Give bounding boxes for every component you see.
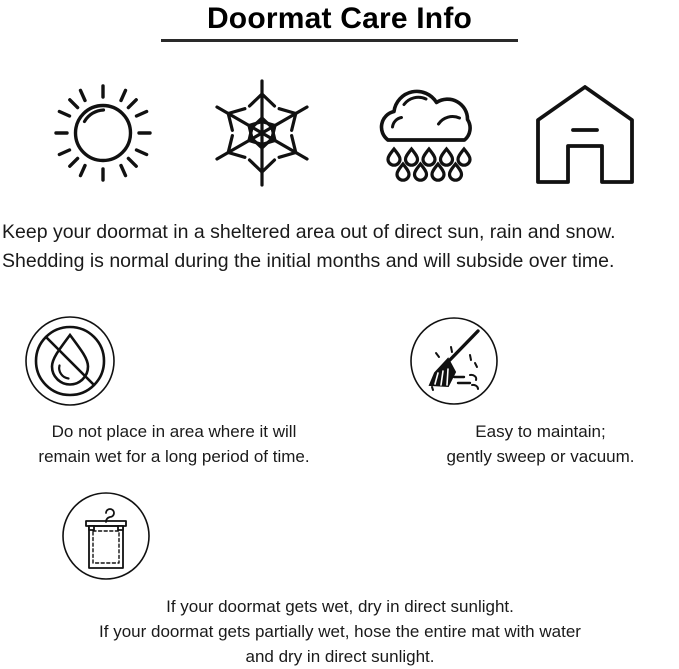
care-caption-dry: If your doormat gets wet, dry in direct … [60, 594, 620, 669]
intro-line-2: Shedding is normal during the initial mo… [2, 247, 679, 276]
care-caption-line-1: Do not place in area where it will [24, 419, 324, 444]
intro-line-1: Keep your doormat in a sheltered area ou… [2, 218, 679, 247]
care-item-no-water: Do not place in area where it will remai… [24, 315, 324, 469]
no-water-droplet-icon [24, 315, 324, 407]
title-underline-rule [161, 39, 518, 42]
care-item-sweep: Easy to maintain; gently sweep or vacuum… [408, 315, 673, 469]
snowflake-icon [197, 72, 327, 194]
rain-cloud-icon [358, 72, 488, 194]
sun-icon [38, 72, 168, 194]
care-caption-line-2: gently sweep or vacuum. [408, 444, 673, 469]
intro-paragraph: Keep your doormat in a sheltered area ou… [2, 218, 679, 276]
care-caption-line-1: Easy to maintain; [408, 419, 673, 444]
care-caption-line-3: and dry in direct sunlight. [60, 644, 620, 669]
care-caption-line-1: If your doormat gets wet, dry in direct … [60, 594, 620, 619]
hanging-mat-icon [60, 490, 620, 582]
care-caption-line-2: remain wet for a long period of time. [24, 444, 324, 469]
page-title: Doormat Care Info [0, 0, 679, 36]
care-caption-line-2: If your doormat gets partially wet, hose… [60, 619, 620, 644]
care-caption-sweep: Easy to maintain; gently sweep or vacuum… [408, 419, 673, 469]
care-caption-no-water: Do not place in area where it will remai… [24, 419, 324, 469]
title-block: Doormat Care Info [0, 0, 679, 42]
weather-icon-row [0, 72, 679, 194]
house-icon [520, 72, 650, 194]
broom-sweeping-icon [408, 315, 673, 407]
care-item-dry: If your doormat gets wet, dry in direct … [60, 490, 620, 669]
